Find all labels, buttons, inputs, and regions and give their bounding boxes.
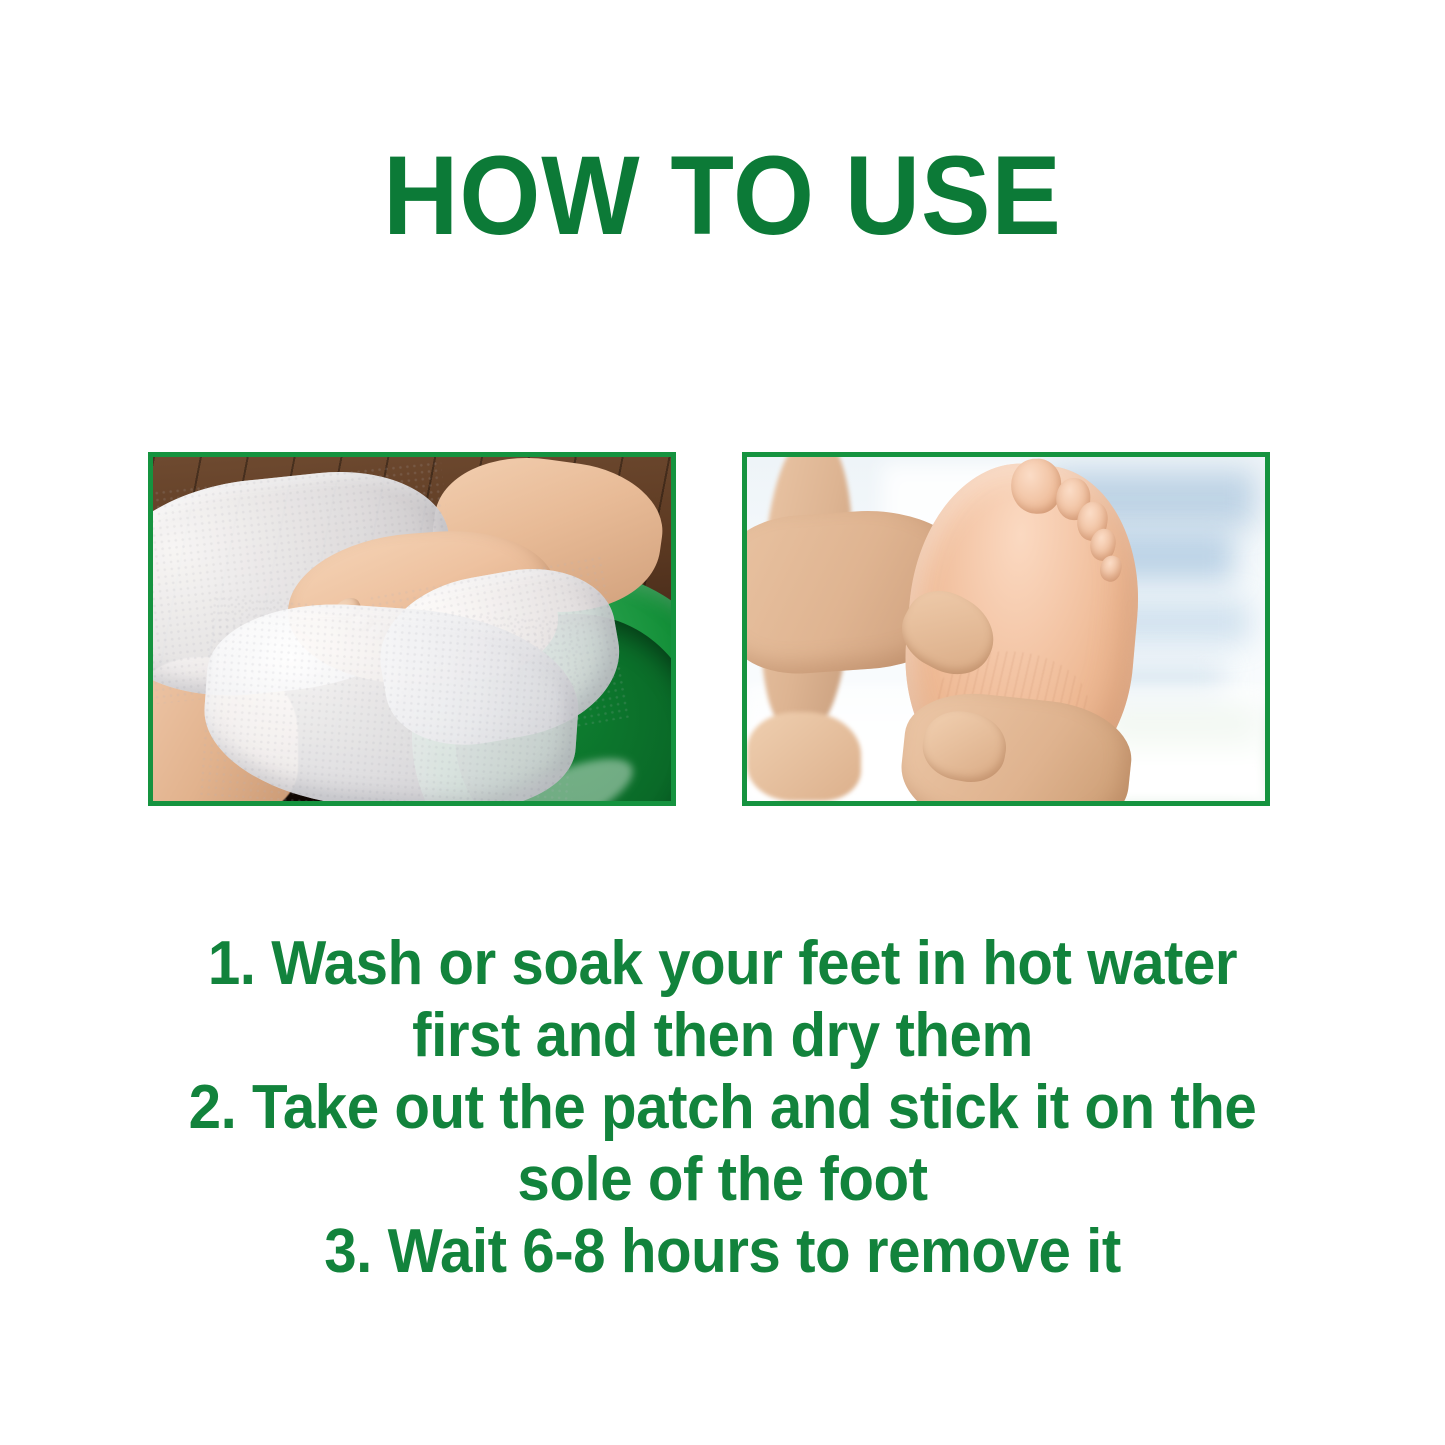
towel-texture: [198, 596, 584, 801]
far-foot: [747, 712, 861, 801]
instruction-line-1: 1. Wash or soak your feet in hot water: [43, 928, 1401, 1000]
foot-massage-photo: [742, 452, 1270, 806]
instruction-line-5: 3. Wait 6-8 hours to remove it: [43, 1216, 1401, 1288]
towel-fold-lower: [198, 596, 584, 801]
instruction-line-4: sole of the foot: [43, 1144, 1401, 1216]
page-title: HOW TO USE: [51, 140, 1395, 252]
instruction-line-2: first and then dry them: [43, 1000, 1401, 1072]
sole-toe-big: [1011, 458, 1062, 514]
foot-soak-photo: [148, 452, 676, 806]
instruction-line-3: 2. Take out the patch and stick it on th…: [43, 1072, 1401, 1144]
foot-massage-photo-content: [747, 457, 1265, 801]
photo-row: [148, 452, 1298, 806]
instructions-block: 1. Wash or soak your feet in hot water f…: [43, 928, 1401, 1288]
how-to-use-infographic: HOW TO USE: [0, 0, 1445, 1445]
foot-soak-photo-content: [153, 457, 671, 801]
